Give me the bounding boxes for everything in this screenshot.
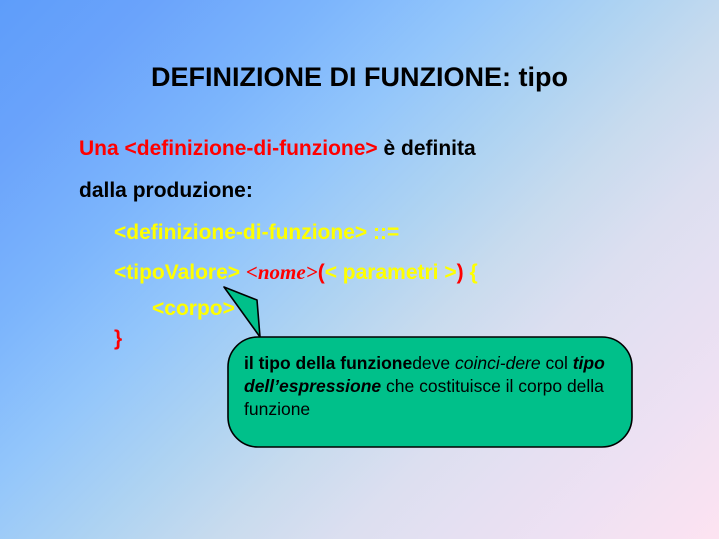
body-line-1-black-text: è definita [378, 137, 476, 160]
page-title: DEFINIZIONE DI FUNZIONE: tipo [0, 62, 719, 93]
callout-text: il tipo della funzionedeve coinci-dere c… [244, 352, 624, 421]
callout-regular-3: che [381, 376, 414, 396]
body-line-2: dalla produzione: [79, 180, 253, 201]
nome-token: <nome> [246, 260, 318, 284]
body-line-1: Una <definizione-di-funzione> è definita [79, 138, 476, 159]
brace-close-token: } [114, 328, 122, 349]
corpo-token: <corpo> [152, 298, 235, 319]
production-rule-head: <definizione-di-funzione> ::= [114, 222, 399, 243]
production-rule-body: <tipoValore> <nome>(< parametri >) { [114, 262, 478, 283]
body-line-1-red-text: Una <definizione-di-funzione> [79, 137, 378, 160]
brace-open-token: { [469, 261, 477, 284]
callout-regular-1: deve [412, 353, 455, 373]
callout-italic-2: dere [506, 353, 541, 373]
callout-italic-1: coinci- [455, 353, 506, 373]
callout-regular-2: col [541, 353, 573, 373]
tipo-valore-token: <tipoValore> [114, 261, 240, 284]
slide-canvas: DEFINIZIONE DI FUNZIONE: tipo Una <defin… [0, 0, 719, 539]
parametri-token: < parametri > [325, 261, 457, 284]
callout-bold-phrase-1: il tipo della funzione [244, 353, 412, 373]
paren-close-token: ) [457, 261, 464, 284]
paren-open-token: ( [318, 261, 325, 284]
